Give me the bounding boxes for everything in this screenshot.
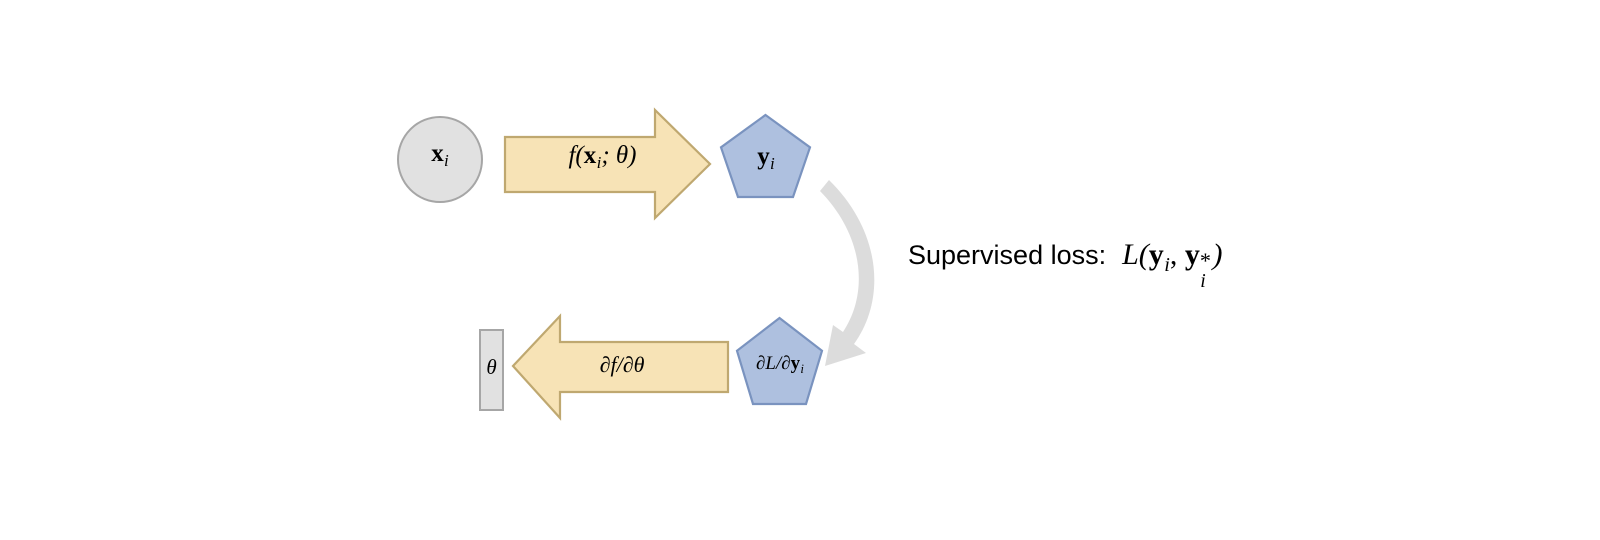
supervised-loss-annotation: Supervised loss:L(yi, y*i) (908, 238, 1222, 277)
gradient-node-pentagon[interactable] (737, 318, 822, 404)
input-node-circle[interactable] (398, 117, 482, 202)
supervised-loss-formula: L(yi, y*i) (1106, 238, 1222, 271)
supervised-loss-text: Supervised loss: (908, 240, 1106, 270)
output-node-pentagon[interactable] (721, 115, 810, 197)
parameter-box[interactable] (480, 330, 503, 410)
forward-transform-arrow[interactable] (505, 110, 710, 218)
backward-gradient-arrow[interactable] (513, 316, 728, 418)
loss-curved-arrow (820, 180, 874, 366)
diagram-canvas (0, 0, 1600, 540)
